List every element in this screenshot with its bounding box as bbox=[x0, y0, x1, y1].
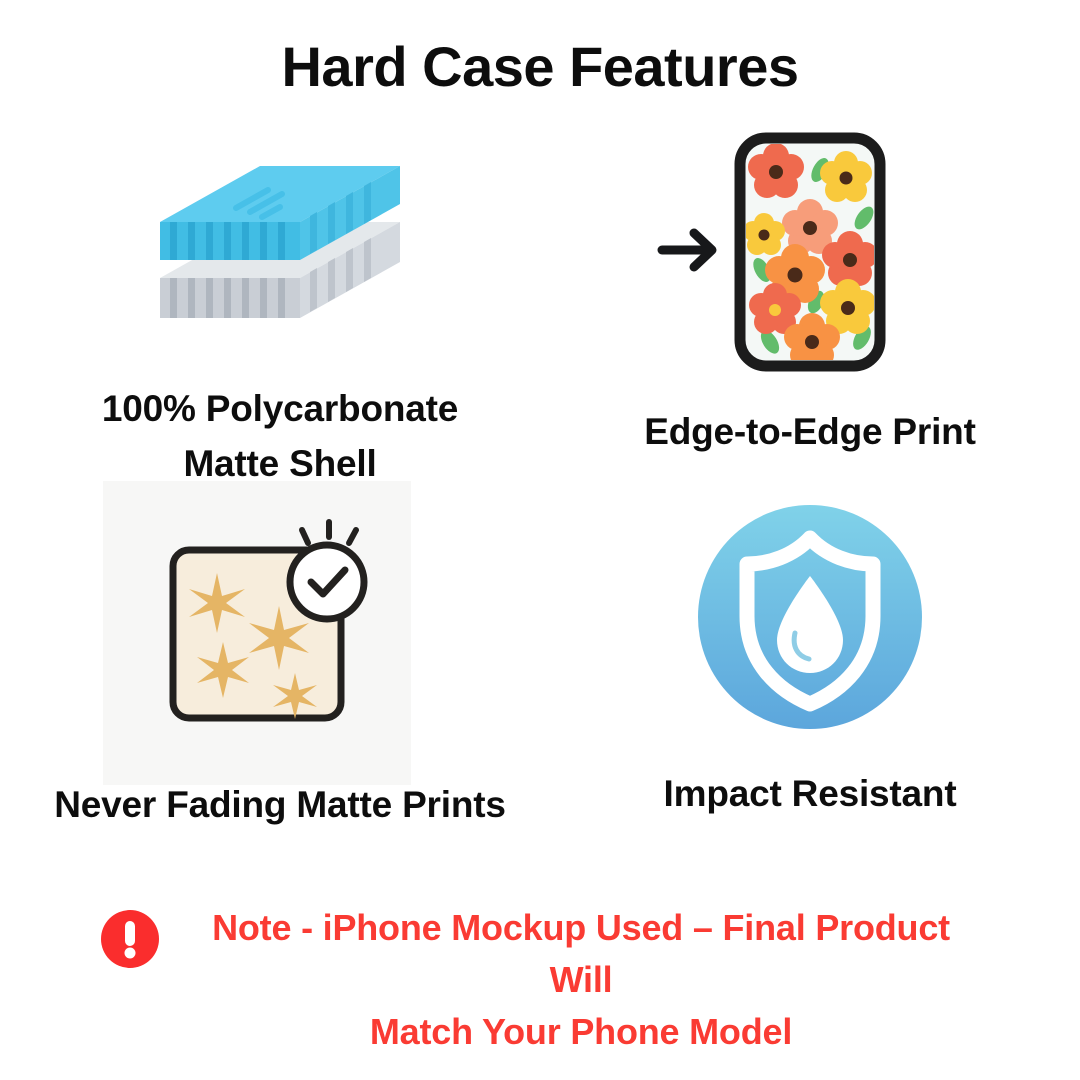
note-line2: Match Your Phone Model bbox=[181, 1006, 981, 1058]
phone-body bbox=[740, 138, 880, 368]
badge-rays bbox=[302, 522, 356, 543]
feature-label: Never Fading Matte Prints bbox=[50, 778, 510, 833]
feature-impact-resistant: Impact Resistant bbox=[560, 500, 1060, 822]
feature-label-line2: Matte Shell bbox=[183, 443, 376, 484]
infographic-page: Hard Case Features bbox=[0, 0, 1080, 1080]
note-line1: Note - iPhone Mockup Used – Final Produc… bbox=[181, 902, 981, 1006]
check-badge-icon bbox=[290, 522, 364, 619]
floral-phone-case-icon bbox=[650, 130, 970, 375]
feature-edge-to-edge-print: Edge-to-Edge Print bbox=[560, 130, 1060, 460]
feature-never-fading-prints: Never Fading Matte Prints bbox=[30, 480, 530, 833]
page-title: Hard Case Features bbox=[0, 36, 1080, 98]
feature-label-line1: Impact Resistant bbox=[664, 773, 957, 814]
feature-label-line1: 100% Polycarbonate bbox=[102, 388, 458, 429]
note-text: Note - iPhone Mockup Used – Final Produc… bbox=[181, 902, 981, 1059]
sparkle-square-check-icon bbox=[155, 498, 405, 748]
footer-note: Note - iPhone Mockup Used – Final Produc… bbox=[0, 902, 1080, 1059]
shield-droplet-icon bbox=[693, 500, 928, 735]
feature-label: Impact Resistant bbox=[570, 767, 1050, 822]
feature-label-line1: Never Fading Matte bbox=[54, 784, 392, 825]
feature-label-line1: Edge-to-Edge Print bbox=[644, 411, 975, 452]
feature-label-line2: Prints bbox=[402, 784, 506, 825]
exclamation-circle-icon bbox=[99, 908, 161, 975]
layered-sheets-icon bbox=[150, 160, 410, 360]
arrow-right-icon bbox=[662, 233, 712, 267]
feature-label: Edge-to-Edge Print bbox=[570, 405, 1050, 460]
feature-polycarbonate-shell: 100% Polycarbonate Matte Shell bbox=[30, 160, 530, 492]
feature-label: 100% Polycarbonate Matte Shell bbox=[50, 382, 510, 492]
